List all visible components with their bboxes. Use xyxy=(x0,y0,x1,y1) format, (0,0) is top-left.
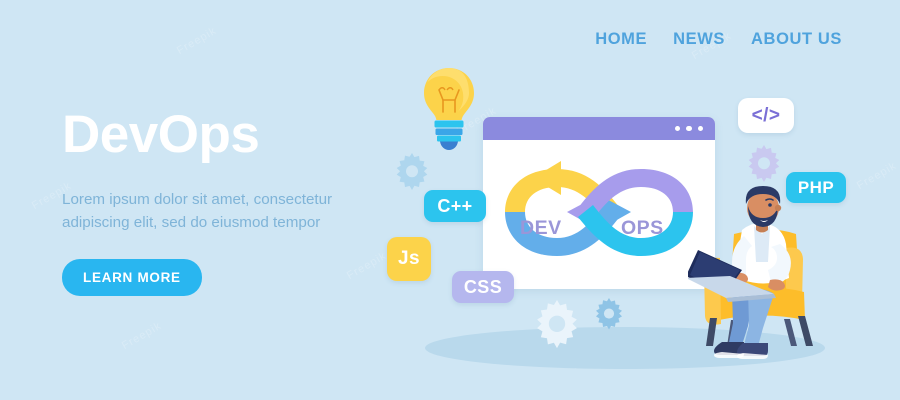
watermark: Freepik xyxy=(175,25,219,57)
developer-with-laptop-illustration xyxy=(688,186,818,366)
hero-copy-block: DevOps Lorem ipsum dolor sit amet, conse… xyxy=(62,108,392,296)
gear-left-upper-icon xyxy=(392,153,432,198)
devops-infinity-loop: DEV OPS xyxy=(483,135,715,289)
gear-bottom-small-icon xyxy=(592,298,626,337)
badge-cpp[interactable]: C++ xyxy=(424,190,486,222)
window-dot-icon xyxy=(698,126,704,132)
lightbulb-icon xyxy=(419,66,479,157)
watermark: Freepik xyxy=(120,320,164,352)
window-dot-icon xyxy=(686,126,692,132)
nav-item-about-us[interactable]: ABOUT US xyxy=(751,30,842,49)
devops-landing-banner: Freepik Freepik Freepik Freepik Freepik … xyxy=(0,0,900,400)
browser-window: DEV OPS xyxy=(483,117,715,289)
learn-more-button[interactable]: LEARN MORE xyxy=(62,259,202,296)
top-navigation: HOME NEWS ABOUT US xyxy=(595,30,842,49)
gear-bottom-large-icon xyxy=(531,300,583,357)
badge-css[interactable]: CSS xyxy=(452,271,514,303)
nav-item-home[interactable]: HOME xyxy=(595,30,647,49)
infinity-label-dev: DEV xyxy=(520,217,562,240)
watermark: Freepik xyxy=(855,160,899,192)
badge-js[interactable]: Js xyxy=(387,237,431,281)
badge-code-brackets[interactable]: </> xyxy=(738,98,794,133)
page-title: DevOps xyxy=(62,108,392,161)
hero-subtitle: Lorem ipsum dolor sit amet, consectetur … xyxy=(62,189,362,235)
infinity-label-ops: OPS xyxy=(621,217,664,240)
nav-item-news[interactable]: NEWS xyxy=(673,30,725,49)
gear-right-upper-icon xyxy=(744,145,784,190)
window-dot-icon xyxy=(675,126,681,132)
